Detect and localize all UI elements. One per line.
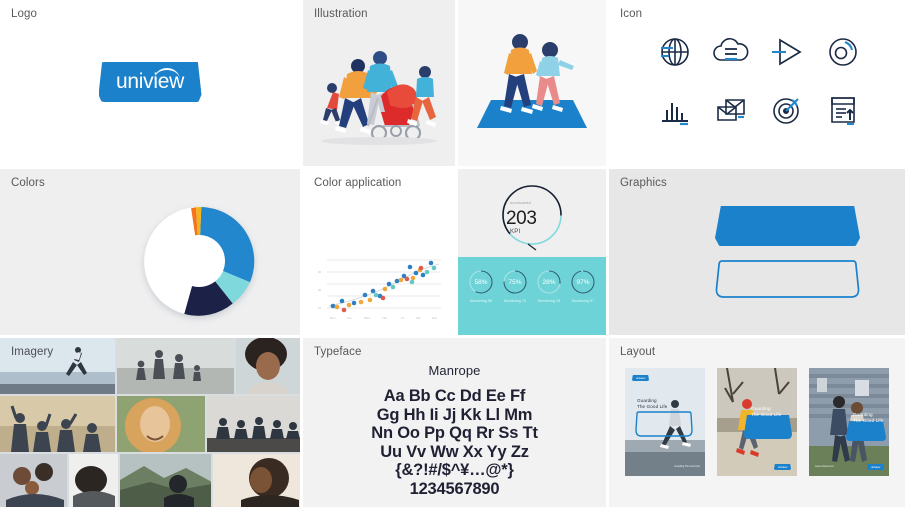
- svg-text:Sat: Sat: [416, 316, 420, 320]
- poster-jumping-person[interactable]: Guarding The Good Life uniview: [717, 368, 797, 476]
- typeface-line: Uu Vv Ww Xx Yy Zz: [303, 443, 606, 462]
- ring-label: Monitoring 97: [567, 299, 599, 303]
- panel-layout: Layout: [609, 338, 905, 507]
- ring-gauge: 75%: [502, 269, 528, 295]
- imagery-row: [0, 396, 300, 452]
- typeface-line: {&?!#/$^¥…@*}: [303, 461, 606, 480]
- ring-gauge: 97%: [570, 269, 596, 295]
- panel-illustration-family: Illustration: [303, 0, 455, 166]
- panel-logo: Logo uniview: [0, 0, 300, 166]
- svg-text:Sun: Sun: [432, 316, 437, 320]
- poster-tagline: Guarding The Good Life: [751, 406, 781, 417]
- photo-family-hug: [0, 454, 67, 507]
- poster-trapezoid-solid: [845, 420, 887, 442]
- poster-tagline: Guarding The Good Life: [637, 398, 667, 409]
- radar-target-icon[interactable]: [765, 88, 809, 132]
- document-upload-icon[interactable]: [821, 88, 865, 132]
- svg-text:30: 30: [318, 270, 322, 274]
- poster-fineprint: www.uniview.com: [815, 465, 834, 468]
- poster-trapezoid-outline: [635, 410, 693, 438]
- svg-text:Wed: Wed: [364, 316, 370, 320]
- photo-family-walking: [117, 338, 234, 394]
- icon-grid: [647, 30, 871, 132]
- typeface-specimen: Aa Bb Cc Dd Ee Ff Gg Hh Ii Jj Kk Ll Mm N…: [303, 387, 606, 498]
- globe-icon[interactable]: [653, 30, 697, 74]
- poster-trapezoid-solid: [743, 414, 793, 440]
- ring-gauge: 28%: [536, 269, 562, 295]
- poster-logo: uniview: [867, 464, 884, 470]
- uniview-logo-mark: uniview: [99, 62, 202, 102]
- ring-value: 28%: [536, 269, 562, 295]
- section-title-illustration: Illustration: [314, 8, 368, 20]
- panel-imagery: Imagery: [0, 338, 300, 507]
- imagery-photo-grid: [0, 338, 300, 507]
- ring-label: Monitoring 28: [533, 299, 565, 303]
- section-title-colors: Colors: [11, 177, 45, 189]
- panel-color-application: Color application 30 20 10 Mon Tue Wed T…: [303, 169, 455, 335]
- graphic-trapezoid-solid: [715, 206, 860, 246]
- photo-smiling-woman: [236, 338, 300, 394]
- imagery-row: [0, 454, 300, 507]
- typeface-line: Aa Bb Cc Dd Ee Ff: [303, 387, 606, 406]
- poster-runner[interactable]: Guarding The Good Life uniview Guarding …: [625, 368, 705, 476]
- ring-gauge-item: 58% Monitoring 58: [465, 269, 497, 303]
- kpi-value: 203: [506, 209, 564, 228]
- svg-text:10: 10: [318, 306, 322, 310]
- svg-text:20: 20: [318, 288, 322, 292]
- disc-icon[interactable]: [821, 30, 865, 74]
- illustration-couple-walking: [458, 0, 606, 166]
- poster-tagline-line2: The Good Life: [637, 404, 667, 410]
- section-title-imagery: Imagery: [11, 346, 53, 358]
- svg-text:Tue: Tue: [347, 316, 352, 320]
- photo-group-cheering: [0, 396, 115, 452]
- ring-value: 97%: [570, 269, 596, 295]
- panel-colors: Colors: [0, 169, 300, 335]
- bar-chart-icon[interactable]: [653, 88, 697, 132]
- typeface-line: Nn Oo Pp Qq Rr Ss Tt: [303, 424, 606, 443]
- section-title-layout: Layout: [620, 346, 655, 358]
- poster-fineprint: Guarding The Good Life: [674, 465, 700, 468]
- section-title-icon: Icon: [620, 8, 642, 20]
- kpi-micro-label: accumulated: [510, 201, 531, 205]
- graphic-trapezoid-outline: [715, 259, 860, 299]
- ring-gauge-item: 28% Monitoring 28: [533, 269, 565, 303]
- donut-svg: [131, 193, 267, 329]
- poster-row: Guarding The Good Life uniview Guarding …: [625, 368, 889, 476]
- illustration-family-stroller: [303, 0, 455, 166]
- typeface-line: Gg Hh Ii Jj Kk Ll Mm: [303, 406, 606, 425]
- kpi-unit-label: KPI: [510, 229, 521, 235]
- section-title-color-application: Color application: [314, 177, 401, 189]
- poster-couple-house[interactable]: Guarding The Good Life uniview www.univi…: [809, 368, 889, 476]
- send-icon[interactable]: [765, 30, 809, 74]
- poster-logo: uniview: [774, 464, 791, 470]
- colors-donut-chart: [131, 193, 267, 334]
- poster-tagline-line2: The Good Life: [853, 418, 883, 424]
- ring-gauge: 58%: [468, 269, 494, 295]
- typeface-name: Manrope: [303, 363, 606, 378]
- brand-style-guide-board: Logo uniview Illustration: [0, 0, 905, 507]
- typeface-line: 1234567890: [303, 480, 606, 499]
- ring-gauge-row: 58% Monitoring 58 75% Monitoring 75: [464, 269, 600, 303]
- photo-laughing-woman: [117, 396, 204, 452]
- photo-backlit-woman: [213, 454, 300, 507]
- panel-kpi: accumulated 203 KPI 58% Monitoring 58: [458, 169, 606, 335]
- cloud-data-icon[interactable]: [709, 30, 753, 74]
- svg-text:Fri: Fri: [401, 316, 405, 320]
- poster-logo: uniview: [632, 375, 649, 381]
- poster-tagline: Guarding The Good Life: [853, 412, 883, 423]
- ring-value: 58%: [468, 269, 494, 295]
- photo-sleeping-person: [69, 454, 118, 507]
- photo-group-sitting: [207, 396, 300, 452]
- panel-illustration-couple: [458, 0, 606, 166]
- ring-gauge-item: 97% Monitoring 97: [567, 269, 599, 303]
- ring-label: Monitoring 58: [465, 299, 497, 303]
- section-title-typeface: Typeface: [314, 346, 361, 358]
- panel-typeface: Typeface Manrope Aa Bb Cc Dd Ee Ff Gg Hh…: [303, 338, 606, 507]
- section-title-graphics: Graphics: [620, 177, 667, 189]
- ring-label: Monitoring 75: [499, 299, 531, 303]
- ring-gauge-item: 75% Monitoring 75: [499, 269, 531, 303]
- svg-text:Thu: Thu: [382, 316, 387, 320]
- scatter-chart: 30 20 10 Mon Tue Wed Thu Fri Sat Sun: [313, 251, 447, 323]
- poster-tagline-line2: The Good Life: [751, 412, 781, 418]
- logo-lockup: uniview: [0, 62, 300, 102]
- panel-graphics: Graphics: [609, 169, 905, 335]
- svg-text:Mon: Mon: [330, 316, 336, 320]
- photo-mountain-couple: [120, 454, 211, 507]
- mail-icon[interactable]: [709, 88, 753, 132]
- kpi-teal-panel: 58% Monitoring 58 75% Monitoring 75: [458, 257, 606, 335]
- ring-value: 75%: [502, 269, 528, 295]
- panel-icon: Icon: [609, 0, 905, 166]
- section-title-logo: Logo: [11, 8, 37, 20]
